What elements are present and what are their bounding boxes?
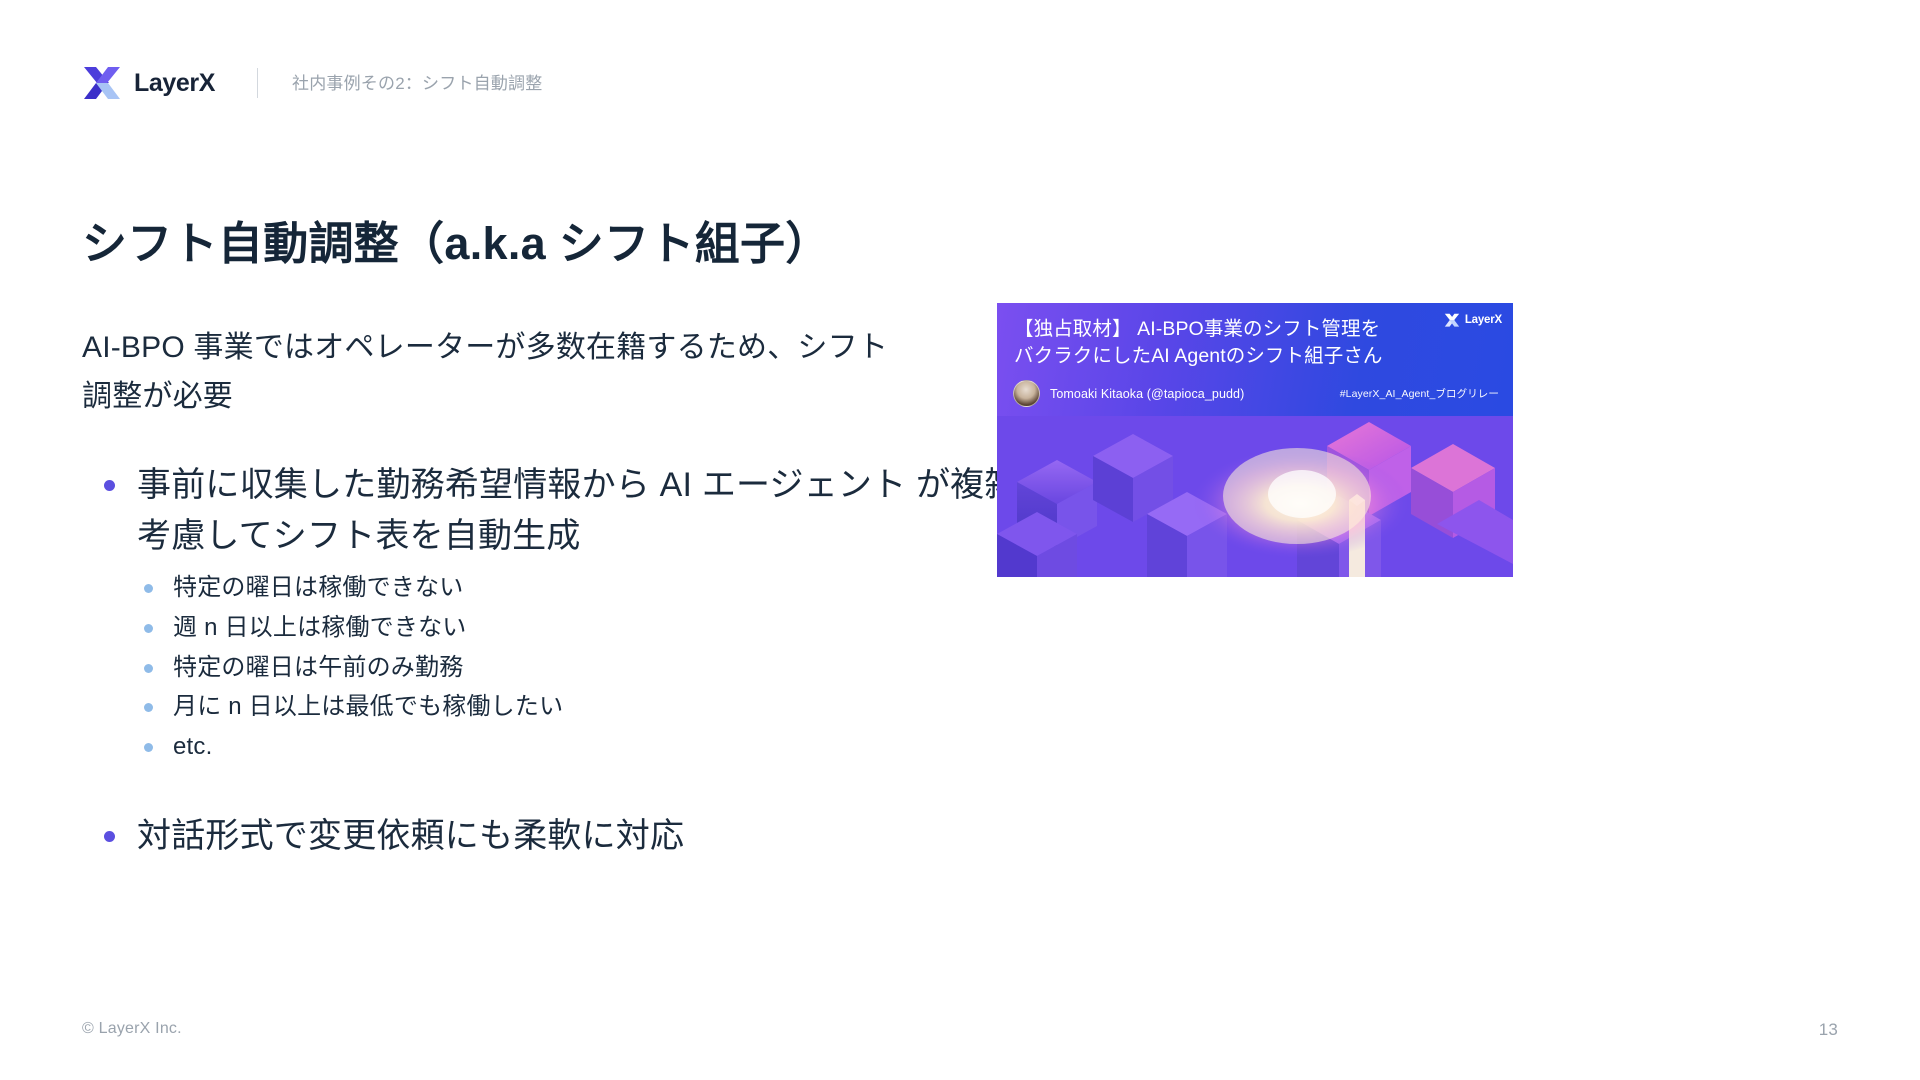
sub-bullet-label: 特定の曜日は午前のみ勤務 — [173, 648, 463, 688]
bullet-dot-icon — [104, 831, 115, 842]
blog-card-artwork — [997, 416, 1513, 577]
slide-header: LayerX 社内事例その2：シフト自動調整 — [82, 62, 542, 104]
lead-paragraph: AI-BPO 事業ではオペレーターが多数在籍するため、シフト 調整が必要 — [82, 324, 1082, 421]
avatar — [1013, 380, 1040, 407]
blog-card-title: 【独占取材】 AI-BPO事業のシフト管理を バクラクにしたAI Agentのシ… — [1014, 316, 1484, 370]
sub-bullet-item: 特定の曜日は午前のみ勤務 — [82, 648, 1172, 688]
slide: LayerX 社内事例その2：シフト自動調整 シフト自動調整（a.k.a シフト… — [0, 0, 1920, 1080]
header-divider — [257, 68, 258, 98]
blog-card-title-line-2: バクラクにしたAI Agentのシフト組子さん — [1014, 343, 1484, 370]
page-title: シフト自動調整（a.k.a シフト組子） — [82, 216, 831, 272]
blog-card-hashtag: #LayerX_AI_Agent_ブログリレー — [1340, 386, 1499, 401]
sub-bullet-label: 週 n 日以上は稼働できない — [173, 608, 466, 648]
footer-page-number: 13 — [1819, 1020, 1838, 1040]
sub-bullet-list: 特定の曜日は稼働できない 週 n 日以上は稼働できない 特定の曜日は午前のみ勤務… — [82, 568, 1172, 767]
footer-copyright: © LayerX Inc. — [82, 1020, 182, 1038]
sub-bullet-item: etc. — [82, 727, 1172, 767]
sub-bullet-dot-icon — [144, 743, 153, 752]
layerx-logo: LayerX — [82, 65, 215, 101]
lead-line-1: AI-BPO 事業ではオペレーターが多数在籍するため、シフト — [82, 324, 1082, 373]
layerx-wordmark: LayerX — [134, 71, 215, 96]
sub-bullet-label: 特定の曜日は稼働できない — [173, 568, 463, 608]
blog-card-title-line-1: 【独占取材】 AI-BPO事業のシフト管理を — [1014, 316, 1484, 343]
sub-bullet-dot-icon — [144, 624, 153, 633]
sub-bullet-label: etc. — [173, 727, 212, 767]
blog-card[interactable]: LayerX 【独占取材】 AI-BPO事業のシフト管理を バクラクにしたAI … — [997, 303, 1513, 577]
layerx-mark-icon — [82, 65, 122, 101]
lead-line-2: 調整が必要 — [82, 373, 1082, 422]
bullet-label: 対話形式で変更依頼にも柔軟に対応 — [137, 811, 684, 862]
sub-bullet-item: 月に n 日以上は最低でも稼働したい — [82, 687, 1172, 727]
sub-bullet-label: 月に n 日以上は最低でも稼働したい — [173, 687, 563, 727]
blog-card-meta: Tomoaki Kitaoka (@tapioca_pudd) #LayerX_… — [1013, 380, 1499, 407]
sub-bullet-dot-icon — [144, 703, 153, 712]
sub-bullet-dot-icon — [144, 664, 153, 673]
breadcrumb: 社内事例その2：シフト自動調整 — [292, 75, 542, 92]
sub-bullet-dot-icon — [144, 584, 153, 593]
blog-card-author: Tomoaki Kitaoka (@tapioca_pudd) — [1050, 387, 1244, 401]
bullet-spacer — [82, 767, 1172, 811]
blog-card-header: LayerX 【独占取材】 AI-BPO事業のシフト管理を バクラクにしたAI … — [997, 303, 1513, 416]
sub-bullet-item: 週 n 日以上は稼働できない — [82, 608, 1172, 648]
bullet-item: 対話形式で変更依頼にも柔軟に対応 — [82, 811, 1172, 862]
bullet-dot-icon — [104, 480, 115, 491]
